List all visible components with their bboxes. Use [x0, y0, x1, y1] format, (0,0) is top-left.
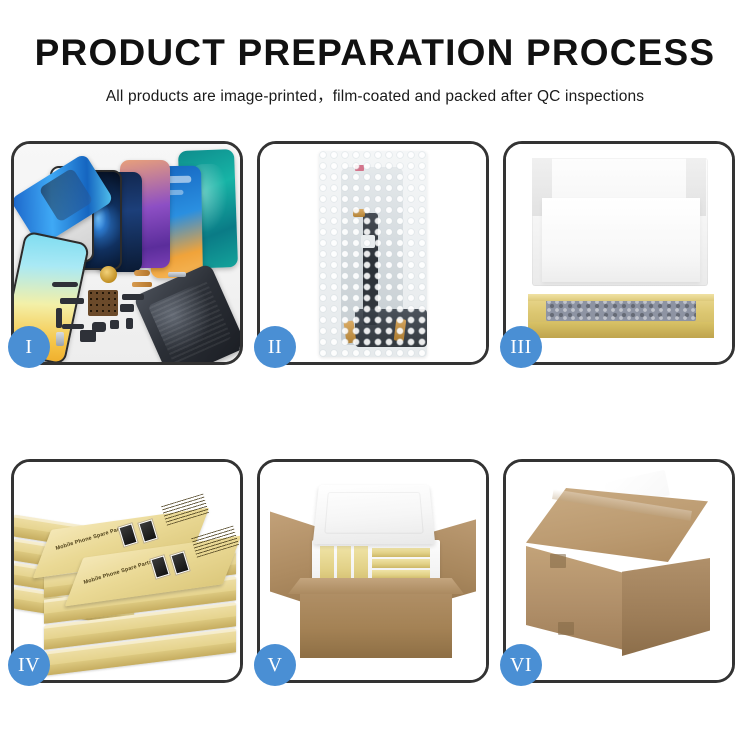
part-logic-board	[88, 290, 118, 316]
part-earpiece-mesh	[52, 282, 78, 287]
step-badge-6: VI	[500, 644, 542, 686]
process-step-3: III	[503, 141, 735, 365]
step-3-image	[506, 144, 732, 362]
step-badge-1: I	[8, 326, 50, 368]
step-badge-2: II	[254, 326, 296, 368]
carton-tab-lower	[558, 622, 574, 635]
yellow-box-6	[372, 570, 430, 579]
step-6-image	[506, 462, 732, 680]
step-badge-4: IV	[8, 644, 50, 686]
step-2-image	[260, 144, 486, 362]
part-connector-1	[120, 304, 134, 312]
part-flex-strip-4	[122, 294, 144, 300]
page-title: PRODUCT PREPARATION PROCESS	[0, 34, 750, 73]
yellow-box-4	[372, 548, 430, 557]
yellow-box-5	[372, 559, 430, 568]
bubble-texture	[319, 151, 427, 357]
carton-tab-upper	[550, 554, 566, 568]
page-header: PRODUCT PREPARATION PROCESS All products…	[0, 0, 750, 106]
step-1-image	[14, 144, 240, 362]
process-step-6: VI	[503, 459, 735, 683]
step-4-image: Mobile Phone Spare Parts Mobile Phone Sp…	[14, 462, 240, 680]
kraft-tray-front	[528, 322, 714, 338]
part-flex-strip-1	[60, 298, 84, 304]
part-flex-strip-3	[62, 324, 84, 329]
process-step-1: I	[11, 141, 243, 365]
part-flex-gold-2	[132, 282, 152, 287]
part-speaker	[100, 266, 117, 283]
step-badge-5: V	[254, 644, 296, 686]
part-flex-gold-1	[134, 270, 150, 276]
kraft-tray-lip	[528, 294, 714, 301]
foam-cooler-lid	[313, 485, 436, 544]
grey-bubble-wrap-contents	[546, 299, 696, 321]
part-chip-1	[110, 320, 119, 329]
kraft-box-stack: Mobile Phone Spare Parts Mobile Phone Sp…	[14, 462, 240, 680]
spare-parts-cluster	[48, 260, 218, 356]
process-step-2: II	[257, 141, 489, 365]
carton-body	[300, 592, 452, 658]
process-step-5: V	[257, 459, 489, 683]
step-5-image	[260, 462, 486, 680]
bubble-wrap-bag	[319, 151, 427, 357]
process-steps-grid: I II	[11, 141, 739, 683]
foam-sheet	[542, 198, 700, 282]
page-subtitle: All products are image-printed，film-coat…	[0, 84, 750, 106]
step-badge-3: III	[500, 326, 542, 368]
part-chip-2	[126, 318, 133, 329]
part-taptic-engine	[80, 330, 96, 342]
process-step-4: Mobile Phone Spare Parts Mobile Phone Sp…	[11, 459, 243, 683]
part-sim-tray	[56, 332, 64, 346]
part-bracket	[168, 272, 186, 277]
